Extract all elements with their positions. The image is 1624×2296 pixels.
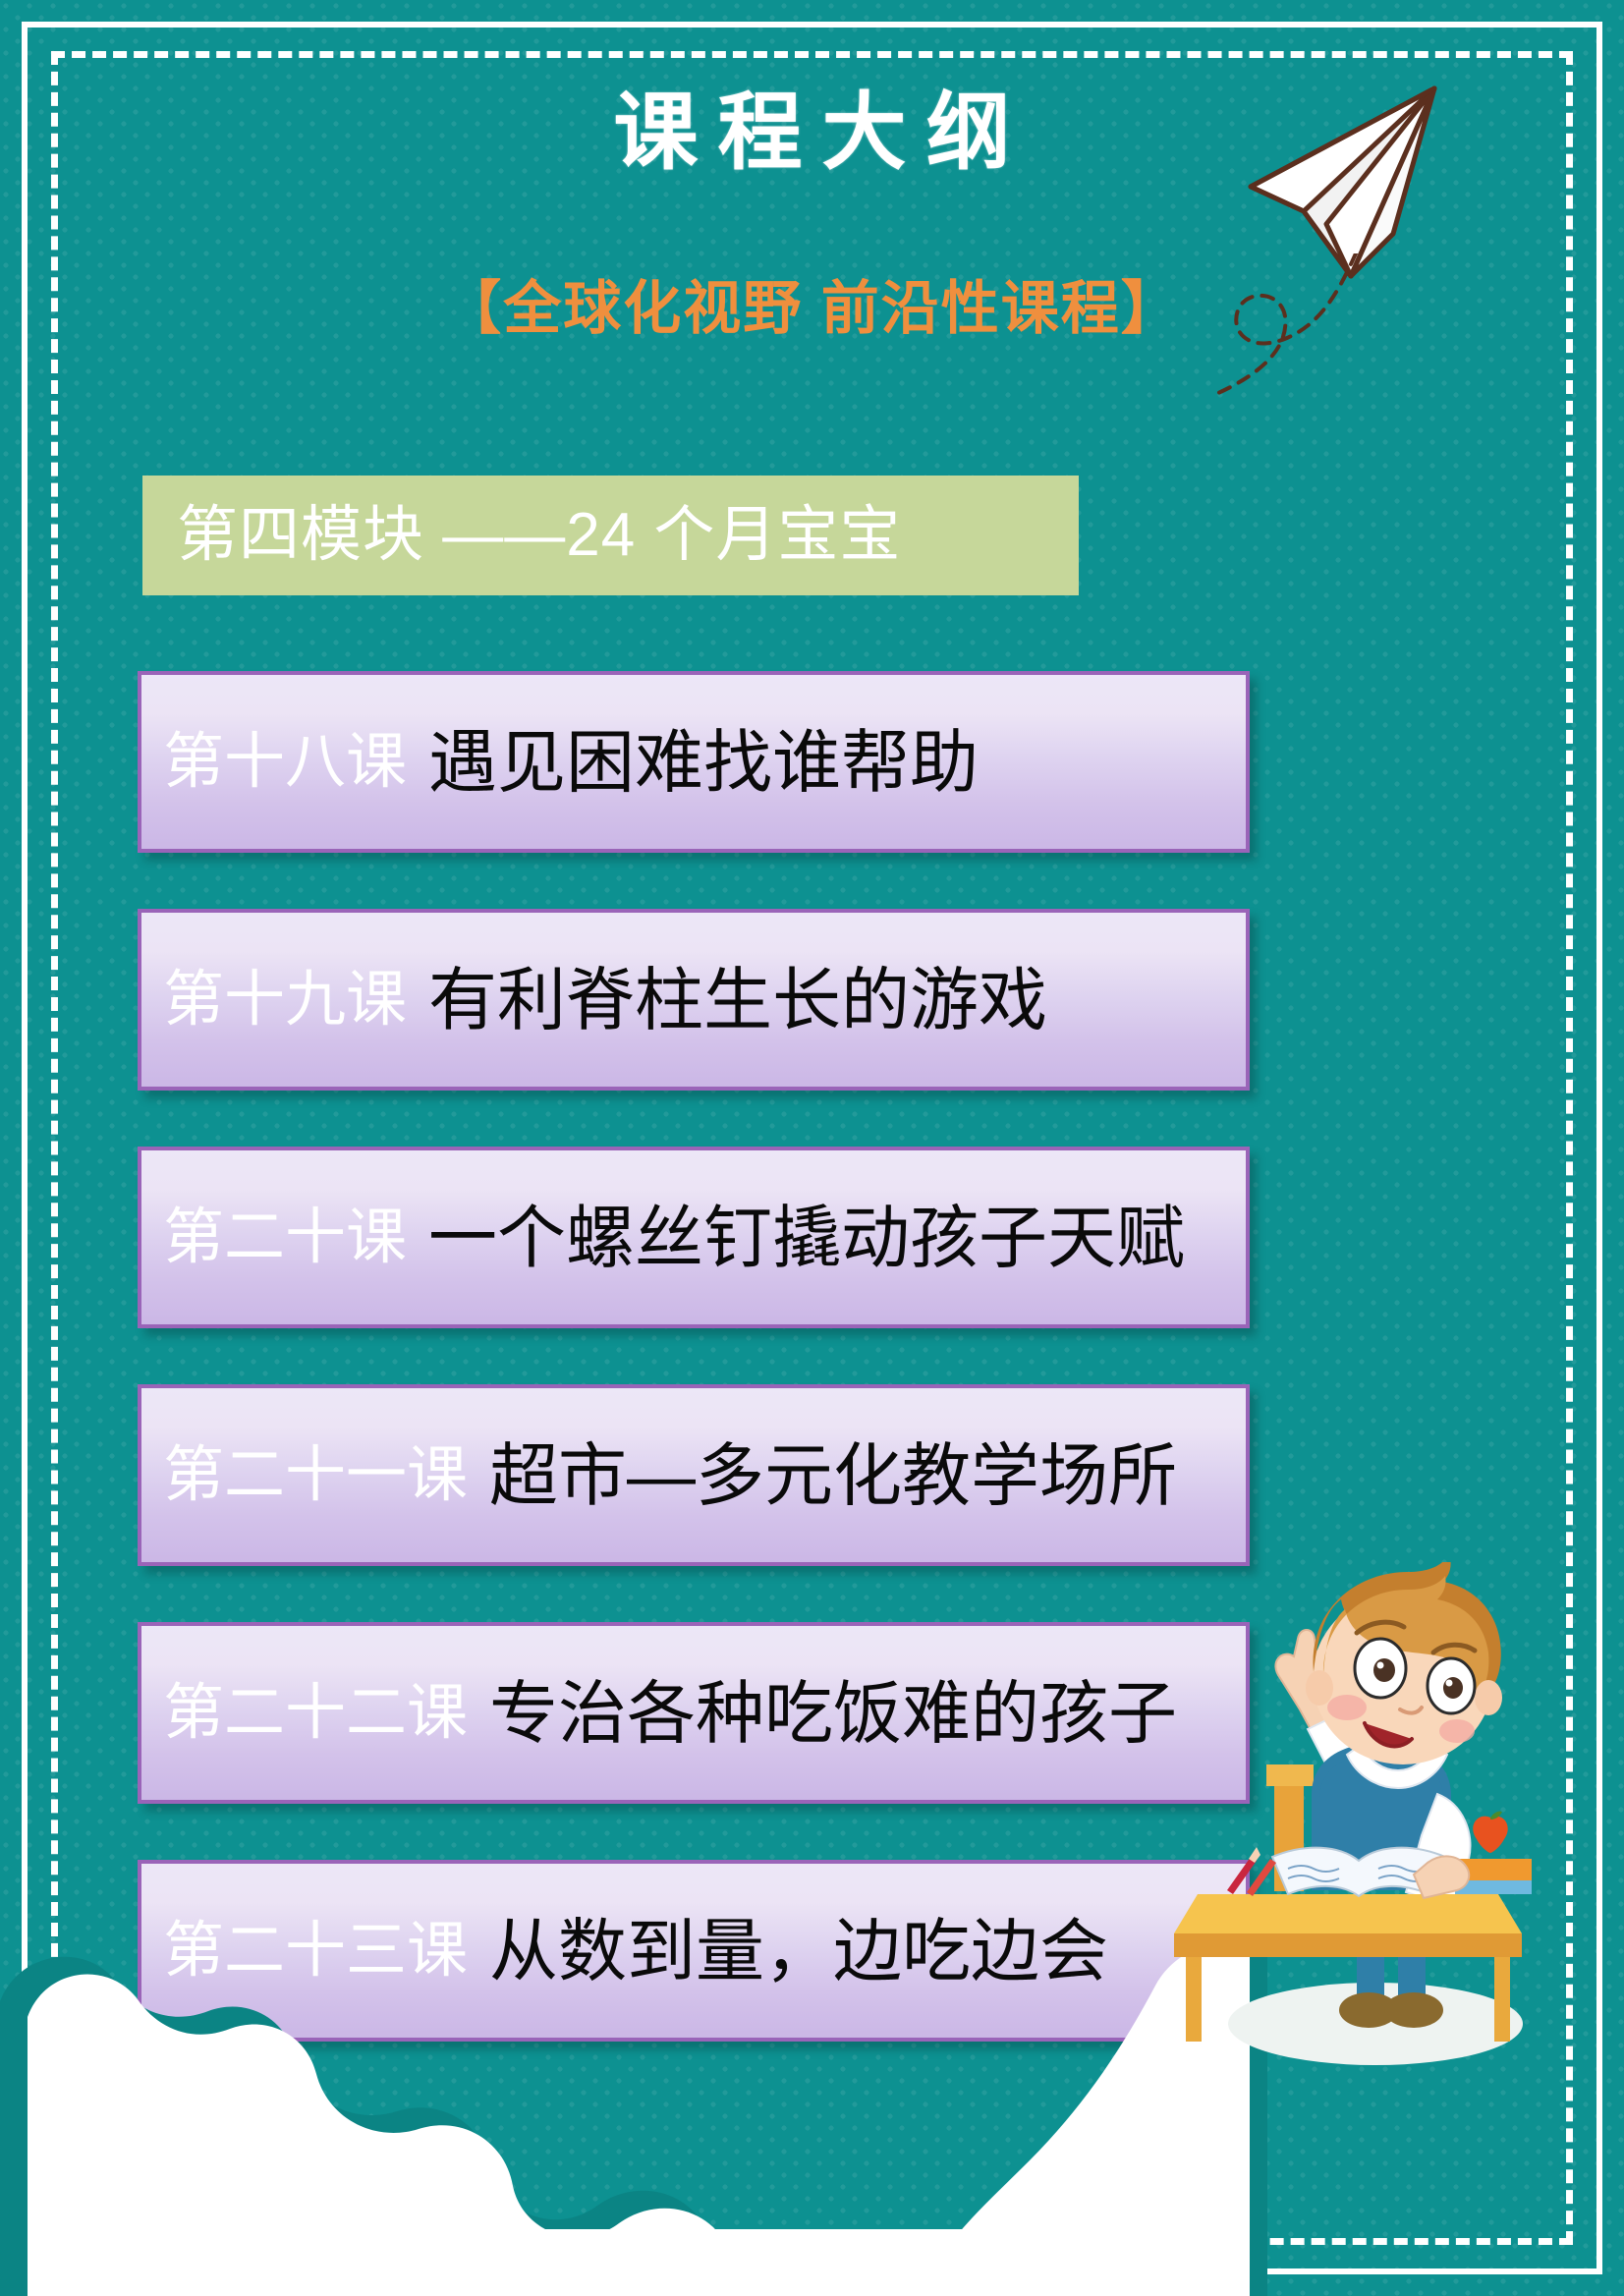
- list-item[interactable]: 第二十一课 超市—多元化教学场所: [138, 1384, 1250, 1566]
- lesson-title: 从数到量，边吃边会: [468, 1917, 1108, 1986]
- module-label: 第四模块 ——24 个月宝宝: [142, 505, 901, 566]
- list-item[interactable]: 第二十三课 从数到量，边吃边会: [138, 1860, 1250, 2042]
- lesson-number: 第十八课: [141, 732, 407, 793]
- lesson-number: 第二十二课: [141, 1683, 468, 1744]
- lesson-title: 一个螺丝钉撬动孩子天赋: [407, 1204, 1185, 1272]
- list-item[interactable]: 第十九课 有利脊柱生长的游戏: [138, 909, 1250, 1091]
- boy-raising-hand-at-desk-illustration: [1164, 1562, 1557, 2073]
- lesson-number: 第二十一课: [141, 1445, 468, 1506]
- lesson-title: 超市—多元化教学场所: [468, 1441, 1177, 1510]
- list-item[interactable]: 第二十课 一个螺丝钉撬动孩子天赋: [138, 1147, 1250, 1328]
- lesson-title: 专治各种吃饭难的孩子: [468, 1679, 1177, 1748]
- lesson-list: 第十八课 遇见困难找谁帮助 第十九课 有利脊柱生长的游戏 第二十课 一个螺丝钉撬…: [138, 671, 1250, 2098]
- list-item[interactable]: 第十八课 遇见困难找谁帮助: [138, 671, 1250, 853]
- lesson-title: 有利脊柱生长的游戏: [407, 966, 1047, 1035]
- lesson-number: 第二十课: [141, 1207, 407, 1268]
- module-header-band: 第四模块 ——24 个月宝宝: [142, 476, 1079, 595]
- list-item[interactable]: 第二十二课 专治各种吃饭难的孩子: [138, 1622, 1250, 1804]
- lesson-number: 第二十三课: [141, 1921, 468, 1982]
- dotted-loop-trail-icon: [1208, 253, 1385, 401]
- lesson-number: 第十九课: [141, 970, 407, 1031]
- lesson-title: 遇见困难找谁帮助: [407, 728, 979, 797]
- poster-root: 课程大纲 【全球化视野 前沿性课程】 第四模块 ——24 个月宝宝 第十八课 遇…: [0, 0, 1624, 2296]
